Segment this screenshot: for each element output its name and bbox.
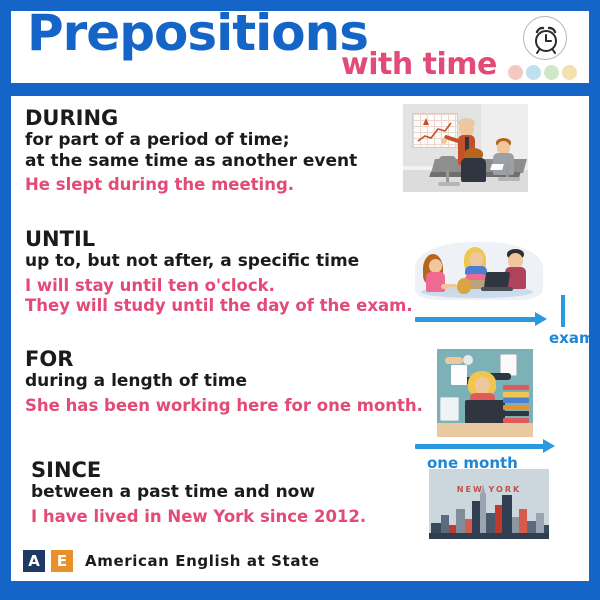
clipboard-icon	[440, 397, 459, 421]
section-during: DURING for part of a period of time; at …	[25, 106, 357, 195]
section-keyword: UNTIL	[25, 227, 413, 251]
section-until: UNTIL up to, but not after, a specific t…	[25, 227, 413, 316]
timeline-until: exam	[415, 311, 592, 351]
busy-woman-multitasking-illustration	[437, 349, 533, 437]
alarm-clock-icon	[523, 16, 567, 60]
section-since: SINCE between a past time and now I have…	[31, 458, 366, 527]
infographic-poster: Prepositions with time DURING for pa	[0, 0, 600, 600]
logo-a-box: A	[23, 550, 45, 572]
logo-e-box: E	[51, 550, 73, 572]
city-caption: NEW YORK	[429, 485, 549, 494]
section-definition: during a length of time	[25, 371, 423, 391]
section-example: He slept during the meeting.	[25, 175, 357, 195]
timeline-label-end: exam	[549, 329, 592, 347]
section-definition: up to, but not after, a specific time	[25, 251, 413, 271]
alarm-clock-mini-green	[544, 65, 559, 80]
brand-name: American English at State	[85, 552, 320, 570]
business-meeting-illustration	[403, 104, 528, 192]
page-subtitle: with time	[341, 47, 497, 82]
footer-branding: A E American English at State	[11, 541, 589, 581]
section-example: They will study until the day of the exa…	[25, 296, 413, 316]
section-example: I have lived in New York since 2012.	[31, 507, 366, 527]
new-york-skyline-illustration: NEW YORK	[429, 469, 549, 539]
book-stack	[503, 385, 529, 425]
alarm-clock-mini-yellow	[562, 65, 577, 80]
section-keyword: FOR	[25, 347, 423, 371]
section-keyword: SINCE	[31, 458, 366, 482]
alarm-clock-mini-blue	[526, 65, 541, 80]
content-card: DURING for part of a period of time; at …	[8, 93, 592, 584]
section-definition: for part of a period of time;	[25, 130, 357, 150]
section-example: I will stay until ten o'clock.	[25, 276, 413, 296]
section-for: FOR during a length of time She has been…	[25, 347, 423, 416]
section-definition: at the same time as another event	[25, 151, 357, 171]
section-keyword: DURING	[25, 106, 357, 130]
section-definition: between a past time and now	[31, 482, 366, 502]
poster-header: Prepositions with time	[8, 8, 592, 86]
alarm-clock-mini-pink	[508, 65, 523, 80]
note-paper	[451, 365, 467, 385]
section-example: She has been working here for one month.	[25, 396, 423, 416]
page-title: Prepositions	[27, 8, 368, 60]
mini-clock-row	[508, 65, 577, 80]
students-studying-illustration	[411, 236, 546, 308]
